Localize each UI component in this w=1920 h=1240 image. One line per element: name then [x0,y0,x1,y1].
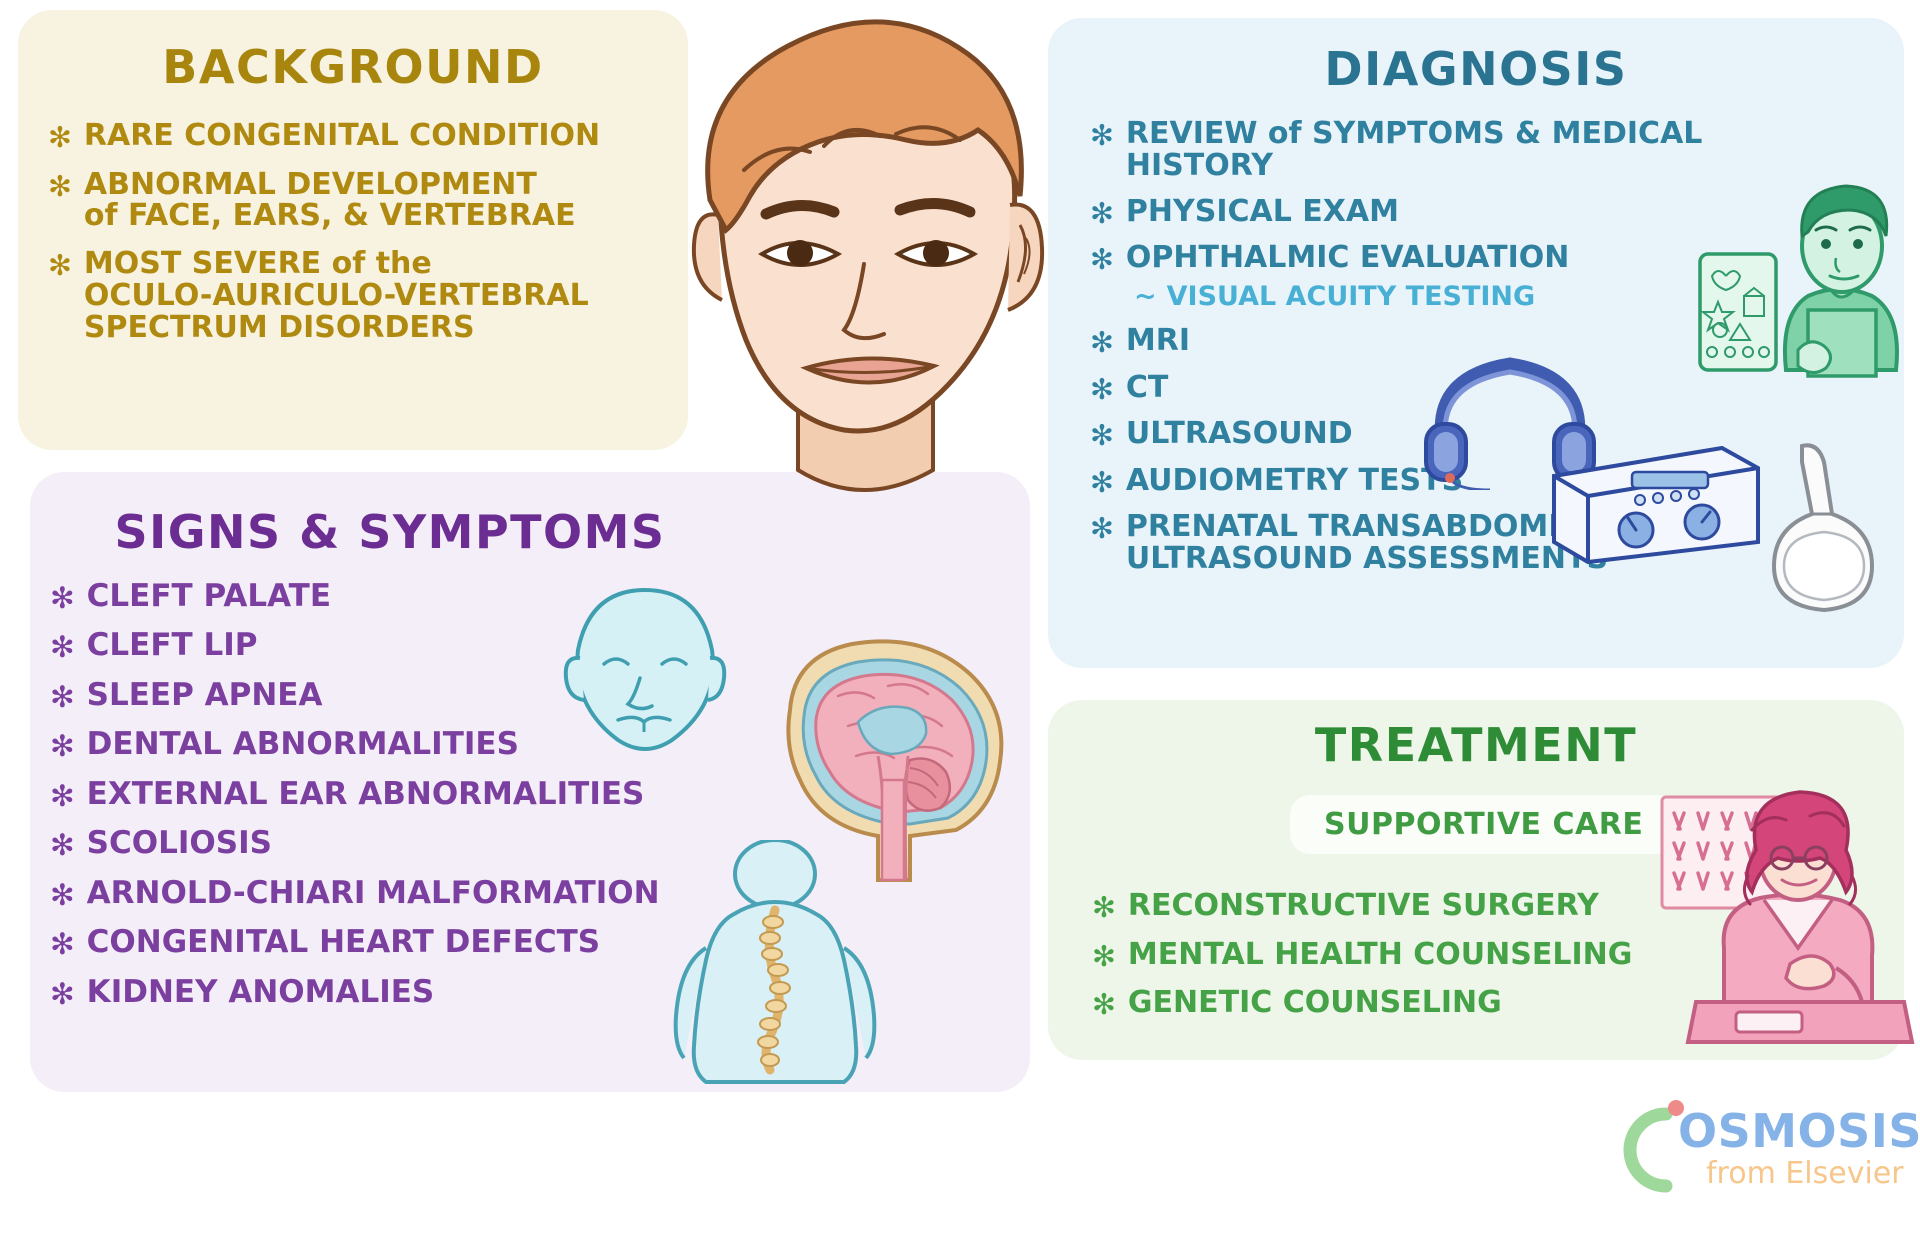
spine-scoliosis-illustration [660,840,890,1090]
background-title: BACKGROUND [18,40,688,94]
asterisk-bullet-icon: ✻ [1090,242,1114,275]
list-item: ✻SCOLIOSIS [50,827,750,860]
list-item: ✻GENETIC COUNSELING [1092,987,1712,1020]
diagnosis-title: DIAGNOSIS [1048,42,1904,96]
asterisk-bullet-icon: ✻ [1090,325,1114,358]
osmosis-wordmark: OSMOSIS [1678,1104,1920,1158]
asterisk-bullet-icon: ✻ [48,169,72,202]
list-item-label: MENTAL HEALTH COUNSELING [1128,939,1712,971]
list-item: ✻RECONSTRUCTIVE SURGERY [1092,890,1712,923]
asterisk-bullet-icon: ✻ [1092,939,1116,972]
supportive-care-badge: SUPPORTIVE CARE [1290,795,1677,854]
list-item: ✻EXTERNAL EAR ABNORMALITIES [50,778,750,811]
infographic-canvas: BACKGROUND ✻RARE CONGENITAL CONDITION✻AB… [0,0,1920,1240]
list-item: ✻KIDNEY ANOMALIES [50,976,750,1009]
asterisk-bullet-icon: ✻ [1092,987,1116,1020]
list-item: ✻RARE CONGENITAL CONDITION [48,120,668,153]
asterisk-bullet-icon: ✻ [50,679,75,712]
asterisk-bullet-icon: ✻ [50,877,75,910]
list-item: ✻ARNOLD-CHIARI MALFORMATION [50,877,750,910]
treatment-title: TREATMENT [1048,718,1904,772]
asterisk-bullet-icon: ✻ [50,926,75,959]
list-item-label: MOST SEVERE of the OCULO-AURICULO-VERTEB… [84,248,668,343]
list-item-label: RECONSTRUCTIVE SURGERY [1128,890,1712,922]
baby-face-illustration [560,580,730,770]
list-item-label: KIDNEY ANOMALIES [87,976,750,1009]
list-item: ✻MOST SEVERE of the OCULO-AURICULO-VERTE… [48,248,668,343]
signs-symptoms-title: SIGNS & SYMPTOMS [30,505,750,559]
osmosis-logo: OSMOSIS from Elsevier [1618,1098,1908,1218]
background-list: ✻RARE CONGENITAL CONDITION✻ABNORMAL DEVE… [48,120,668,359]
asterisk-bullet-icon: ✻ [1090,118,1114,151]
asterisk-bullet-icon: ✻ [50,580,75,613]
asterisk-bullet-icon: ✻ [48,120,72,153]
asterisk-bullet-icon: ✻ [1090,465,1114,498]
asterisk-bullet-icon: ✻ [1090,418,1114,451]
nurse-with-vision-chart-illustration [1690,170,1910,400]
list-item-label: SCOLIOSIS [87,827,750,860]
list-item-label: ARNOLD-CHIARI MALFORMATION [87,877,750,910]
audiometer-machine-illustration [1540,420,1770,570]
list-item: ✻CONGENITAL HEART DEFECTS [50,926,750,959]
genetic-counselor-illustration [1660,780,1920,1050]
list-item: ✻ABNORMAL DEVELOPMENT of FACE, EARS, & V… [48,169,668,233]
asterisk-bullet-icon: ✻ [48,248,72,281]
boy-portrait-illustration [648,0,1078,520]
asterisk-bullet-icon: ✻ [50,827,75,860]
asterisk-bullet-icon: ✻ [1090,511,1114,544]
osmosis-tagline: from Elsevier [1706,1156,1904,1191]
list-item-label: EXTERNAL EAR ABNORMALITIES [87,778,750,811]
list-item-label: RARE CONGENITAL CONDITION [84,120,668,152]
list-item-label: GENETIC COUNSELING [1128,987,1712,1019]
list-item-label: CONGENITAL HEART DEFECTS [87,926,750,959]
treatment-list: ✻RECONSTRUCTIVE SURGERY✻MENTAL HEALTH CO… [1092,890,1712,1036]
asterisk-bullet-icon: ✻ [1090,196,1114,229]
tilde-bullet-icon: ~ [1134,283,1157,312]
ultrasound-probe-illustration [1740,440,1890,620]
asterisk-bullet-icon: ✻ [50,629,75,662]
asterisk-bullet-icon: ✻ [50,976,75,1009]
list-item-label: ABNORMAL DEVELOPMENT of FACE, EARS, & VE… [84,169,668,233]
asterisk-bullet-icon: ✻ [50,728,75,761]
asterisk-bullet-icon: ✻ [50,778,75,811]
list-item: ✻MENTAL HEALTH COUNSELING [1092,939,1712,972]
asterisk-bullet-icon: ✻ [1092,890,1116,923]
asterisk-bullet-icon: ✻ [1090,372,1114,405]
